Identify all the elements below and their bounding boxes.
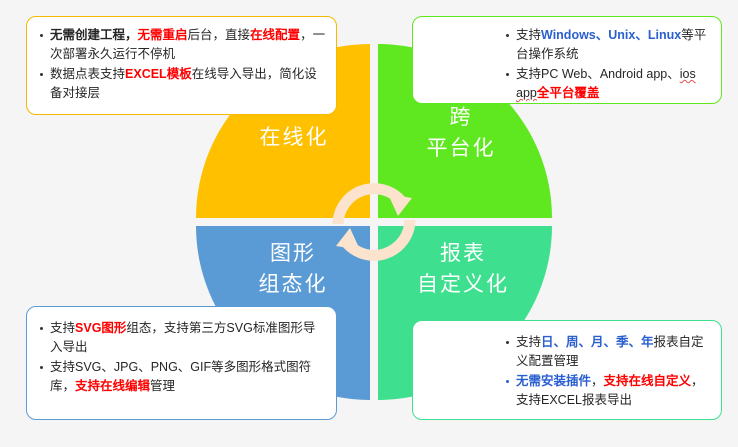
run-plain: 支持 — [50, 321, 75, 335]
run-emphasis-red: 在线配置 — [250, 28, 300, 42]
run-plain: 后台，直接 — [188, 28, 251, 42]
run-emphasis-blue: 无需安装插件 — [516, 374, 591, 388]
callout-online-list: 无需创建工程，无需重启后台，直接在线配置，一次部署永久运行不停机 数据点表支持E… — [39, 26, 326, 103]
run-plain: 支持 — [516, 335, 541, 349]
list-item: 支持SVG、JPG、PNG、GIF等多图形格式图符库，支持在线编辑管理 — [39, 358, 326, 396]
run-plain: 支持PC Web、Android app、 — [516, 67, 680, 81]
callout-reports-list: 支持日、周、月、季、年报表自定义配置管理 无需安装插件，支持在线自定义，支持EX… — [505, 333, 711, 410]
quadrant-label-online: 在线化 — [234, 122, 354, 153]
run-plain: 管理 — [150, 379, 175, 393]
callout-cross-platform: 支持Windows、Unix、Linux等平台操作系统 支持PC Web、And… — [412, 16, 722, 104]
list-item: 无需创建工程，无需重启后台，直接在线配置，一次部署永久运行不停机 — [39, 26, 326, 64]
run-emphasis-red: 全平台覆盖 — [537, 86, 600, 100]
run-emphasis-red: 无需重启 — [138, 28, 188, 42]
run-plain: 数据点表支持 — [50, 67, 125, 81]
list-item: 支持Windows、Unix、Linux等平台操作系统 — [505, 26, 711, 64]
run-plain: 支持 — [516, 28, 541, 42]
quadrant-label-cross-platform: 跨 平台化 — [398, 102, 524, 164]
run-emphasis-red: SVG图形 — [75, 321, 126, 335]
callout-cross-platform-list: 支持Windows、Unix、Linux等平台操作系统 支持PC Web、And… — [505, 26, 711, 103]
run-emphasis-red: 支持在线编辑 — [75, 379, 150, 393]
run-emphasis-blue: 日、周、月、季、年 — [541, 335, 654, 349]
run-plain: ， — [591, 374, 604, 388]
run-emphasis-blue: Windows、Unix、Linux — [541, 28, 681, 42]
list-item: 数据点表支持EXCEL模板在线导入导出，简化设备对接层 — [39, 65, 326, 103]
run-plain: 无需创建工程， — [50, 28, 138, 42]
list-item: 支持SVG图形组态，支持第三方SVG标准图形导入导出 — [39, 319, 326, 357]
callout-graphics-list: 支持SVG图形组态，支持第三方SVG标准图形导入导出 支持SVG、JPG、PNG… — [39, 319, 326, 396]
list-item: 支持日、周、月、季、年报表自定义配置管理 — [505, 333, 711, 371]
list-item: 支持PC Web、Android app、ios app全平台覆盖 — [505, 65, 711, 103]
rotating-arrows-icon — [324, 172, 424, 272]
callout-online: 无需创建工程，无需重启后台，直接在线配置，一次部署永久运行不停机 数据点表支持E… — [26, 16, 337, 115]
callout-reports: 支持日、周、月、季、年报表自定义配置管理 无需安装插件，支持在线自定义，支持EX… — [412, 320, 722, 420]
callout-graphics: 支持SVG图形组态，支持第三方SVG标准图形导入导出 支持SVG、JPG、PNG… — [26, 306, 337, 420]
run-emphasis-red: 支持在线自定义 — [604, 374, 692, 388]
list-item: 无需安装插件，支持在线自定义，支持EXCEL报表导出 — [505, 372, 711, 410]
run-emphasis-red: EXCEL模板 — [125, 67, 192, 81]
